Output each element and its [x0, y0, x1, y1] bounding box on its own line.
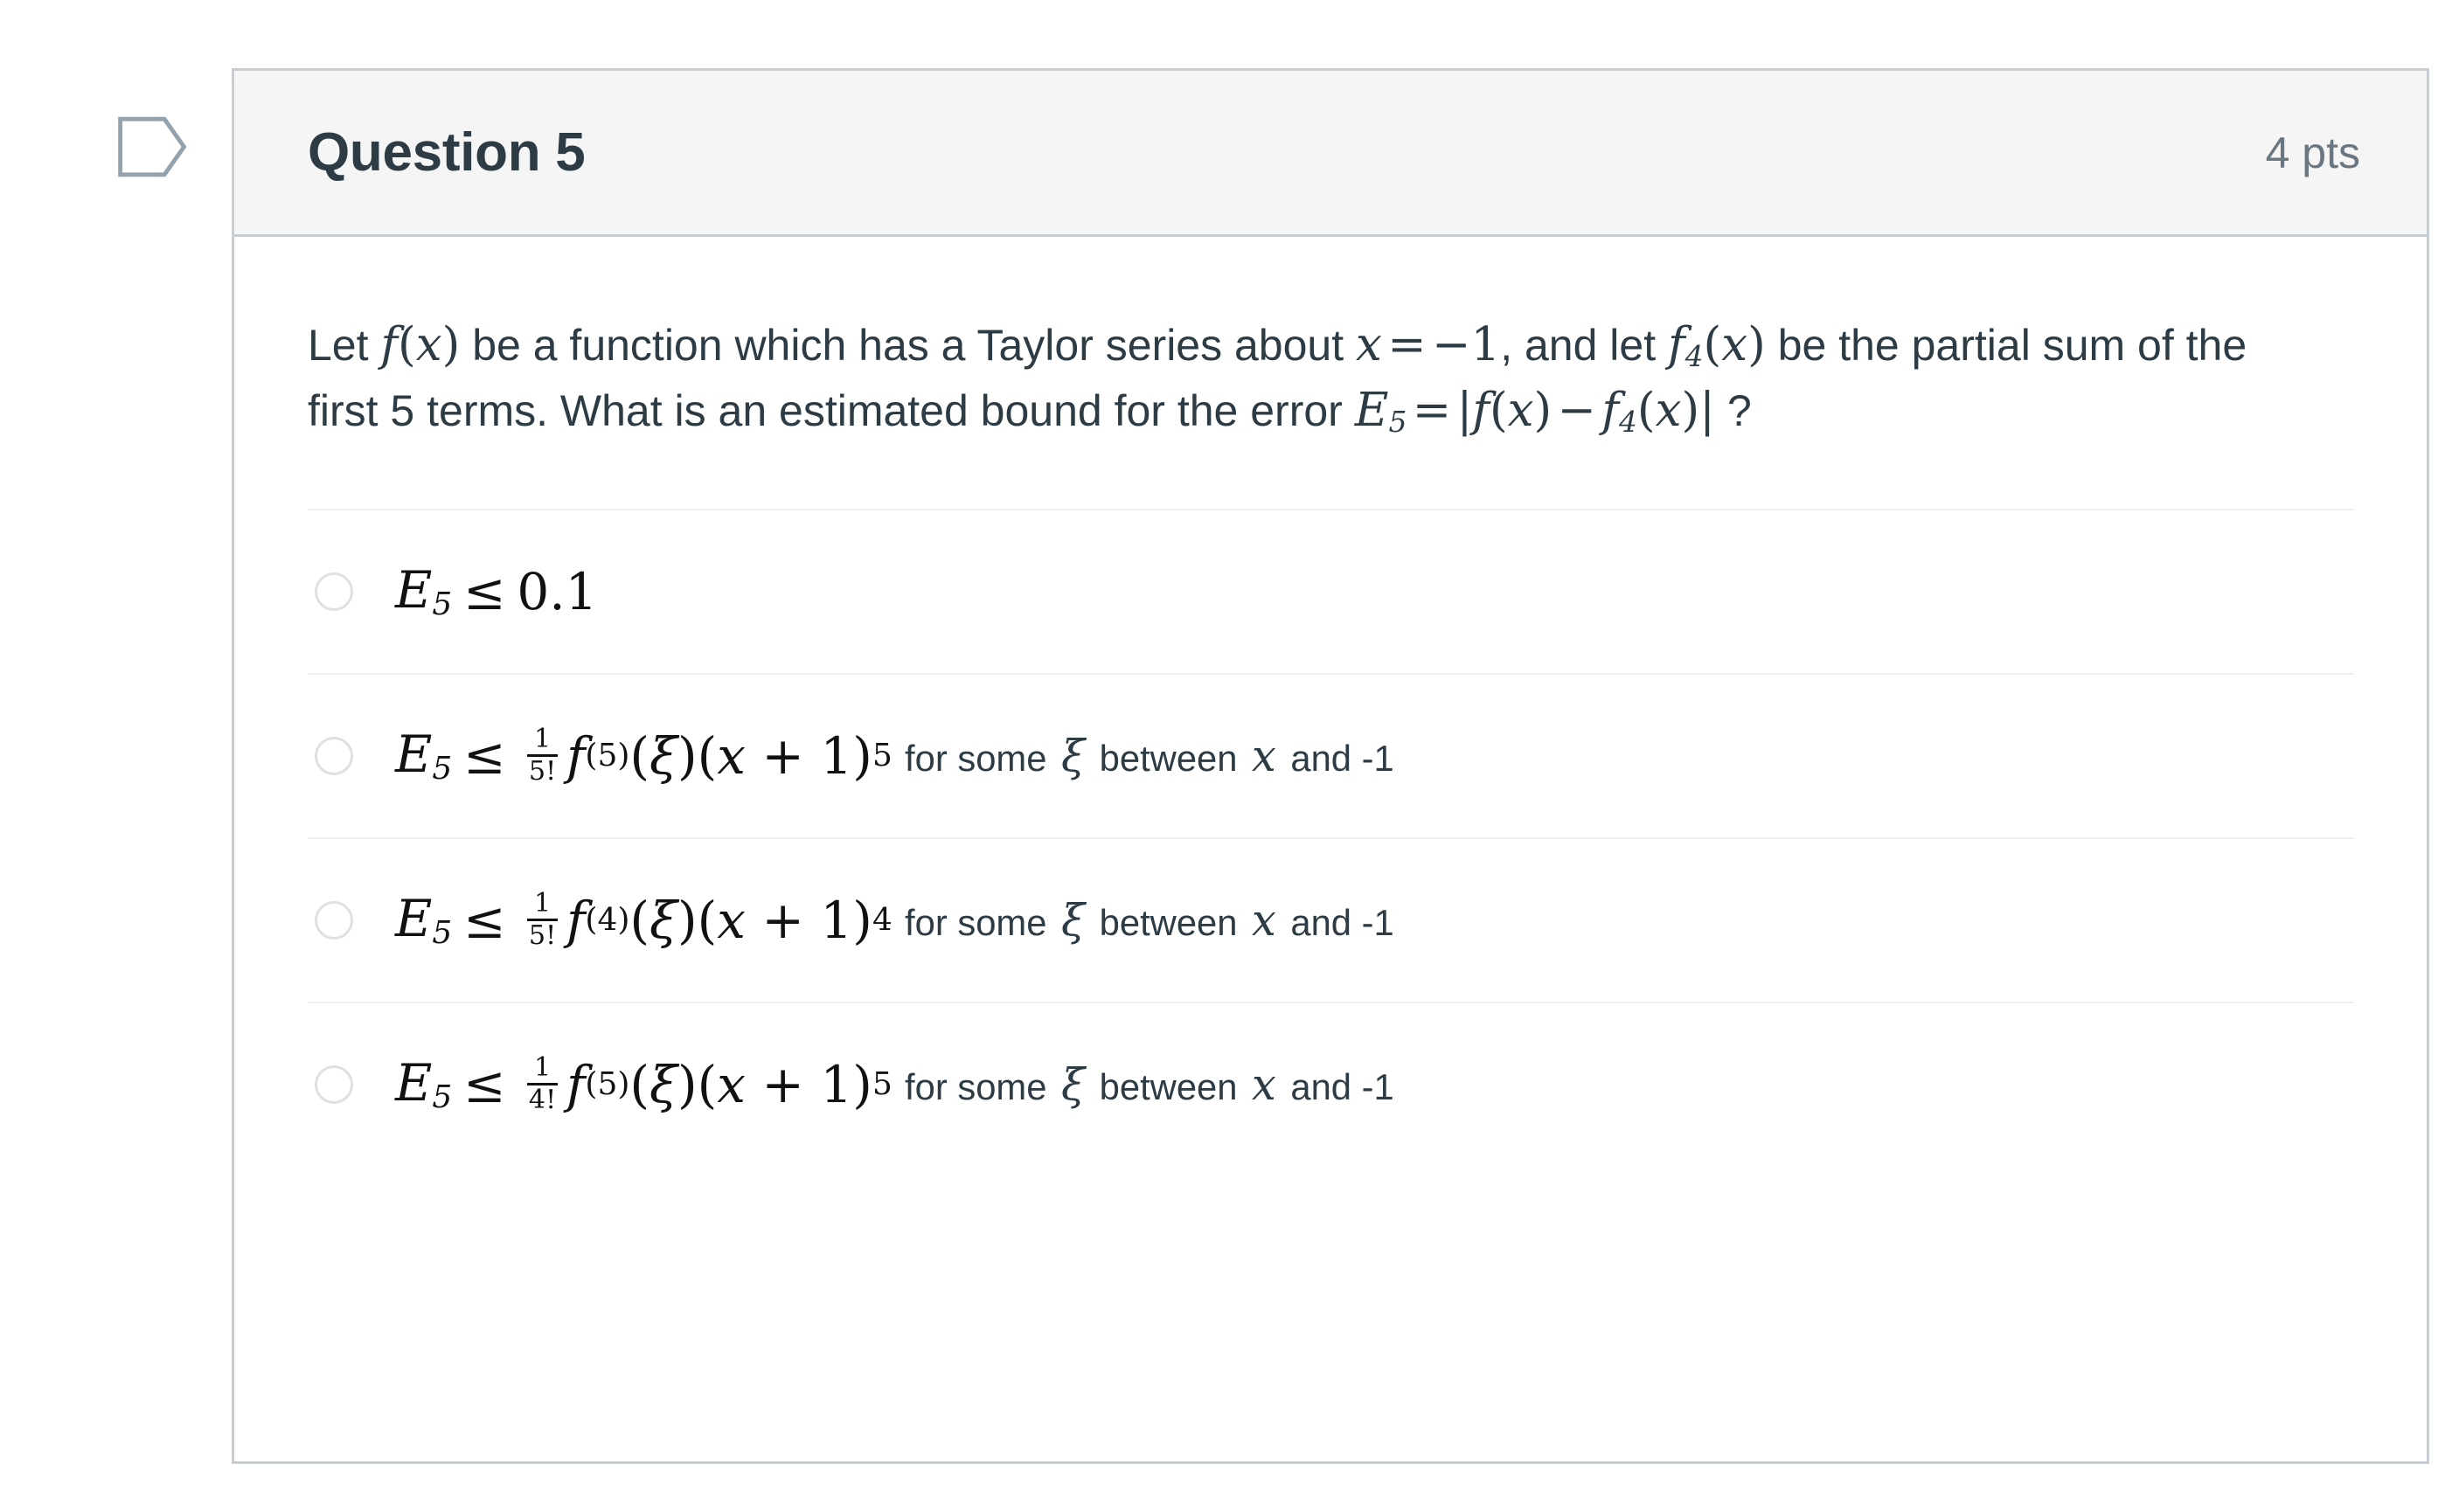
prompt-segment-3: , and let	[1500, 321, 1656, 370]
answer-d-math: E5 ≤ 1 4! f(5)(ξ)(x + 1)5 for some ξ bet…	[395, 1053, 1394, 1115]
question-body: Let f(x) be a function which has a Taylo…	[234, 237, 2427, 1166]
question-page: Question 5 4 pts Let f(x) be a function …	[0, 0, 2459, 1512]
question-title: Question 5	[308, 121, 585, 184]
answer-options-list: E5 ≤ 0.1 E5 ≤ 1 5! f(5)(ξ	[308, 509, 2353, 1166]
answer-option-b[interactable]: E5 ≤ 1 5! f(5)(ξ)(x + 1)5 for some ξ bet…	[308, 673, 2353, 837]
answer-option-c[interactable]: E5 ≤ 1 5! f(4)(ξ)(x + 1)4 for some ξ bet…	[308, 837, 2353, 1002]
answer-d-tail: for some ξ between x and -1	[905, 1059, 1394, 1110]
answer-option-a[interactable]: E5 ≤ 0.1	[308, 509, 2353, 673]
prompt-segment-1: Let	[308, 321, 369, 370]
radio-button-b[interactable]	[315, 737, 353, 775]
prompt-segment-5: ?	[1727, 386, 1752, 435]
answer-b-fraction: 1 5!	[522, 725, 562, 786]
prompt-segment-2: be a function which has a Taylor series …	[472, 321, 1344, 370]
answer-b-tail: for some ξ between x and -1	[905, 731, 1394, 781]
flag-outline-icon[interactable]	[115, 94, 212, 199]
flag-icon-svg	[115, 113, 191, 181]
question-header: Question 5 4 pts	[234, 71, 2427, 237]
answer-b-math: E5 ≤ 1 5! f(5)(ξ)(x + 1)5 for some ξ bet…	[395, 725, 1394, 787]
answer-c-math: E5 ≤ 1 5! f(4)(ξ)(x + 1)4 for some ξ bet…	[395, 889, 1394, 951]
math-x-equals-minus-one: x=−1	[1356, 318, 1500, 371]
question-card: Question 5 4 pts Let f(x) be a function …	[232, 68, 2429, 1464]
radio-button-c[interactable]	[315, 901, 353, 940]
answer-d-fraction: 1 4!	[522, 1054, 562, 1114]
question-points: 4 pts	[2266, 128, 2360, 178]
math-error-definition: E5=|f(x)−f4(x)|	[1355, 384, 1715, 437]
math-f4-of-x: f4(x)	[1668, 318, 1766, 371]
answer-option-d[interactable]: E5 ≤ 1 4! f(5)(ξ)(x + 1)5 for some ξ bet…	[308, 1002, 2353, 1166]
answer-c-fraction: 1 5!	[522, 890, 562, 950]
radio-button-a[interactable]	[315, 572, 353, 611]
answer-c-tail: for some ξ between x and -1	[905, 895, 1394, 946]
answer-a-math: E5 ≤ 0.1	[395, 560, 598, 622]
question-prompt: Let f(x) be a function which has a Taylo…	[308, 312, 2318, 444]
radio-button-d[interactable]	[315, 1065, 353, 1104]
answer-a-value: 0.1	[517, 562, 597, 621]
math-f-of-x: f(x)	[380, 318, 460, 371]
